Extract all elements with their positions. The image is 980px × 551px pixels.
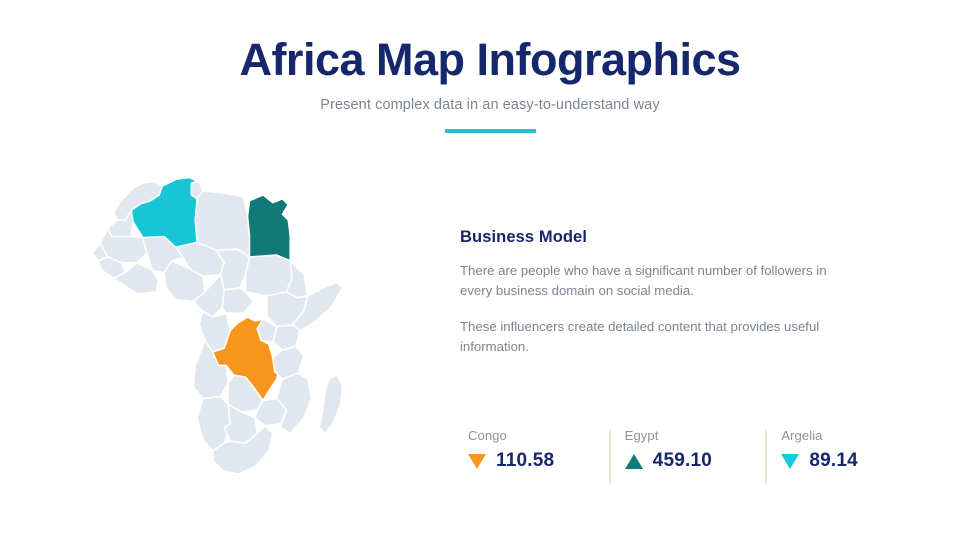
- country-egypt-highlighted: [248, 195, 291, 261]
- stat-egypt: Egypt 459.10: [609, 428, 766, 472]
- country-madagascar: [319, 375, 342, 433]
- stat-value-egypt: 459.10: [653, 450, 712, 472]
- business-model-panel: Business Model There are people who have…: [460, 228, 880, 357]
- stat-value-row-egypt: 459.10: [625, 450, 766, 472]
- stat-label-argelia: Argelia: [781, 428, 922, 443]
- trend-down-icon-argelia: [781, 454, 799, 469]
- header: Africa Map Infographics Present complex …: [0, 36, 980, 113]
- stat-congo: Congo 110.58: [452, 428, 609, 472]
- panel-heading: Business Model: [460, 228, 880, 247]
- page-subtitle: Present complex data in an easy-to-under…: [0, 97, 980, 113]
- country-mozambique: [277, 373, 312, 433]
- stat-argelia: Argelia 89.14: [765, 428, 922, 472]
- trend-up-icon-egypt: [625, 454, 643, 469]
- country-sudan: [246, 255, 293, 296]
- stat-value-row-argelia: 89.14: [781, 450, 922, 472]
- stat-value-argelia: 89.14: [809, 450, 858, 472]
- stat-label-congo: Congo: [468, 428, 609, 443]
- map-base-countries: [92, 181, 342, 474]
- stats-row: Congo 110.58 Egypt 459.10 Argelia 89.14: [452, 428, 922, 486]
- page-title: Africa Map Infographics: [0, 36, 980, 83]
- stat-value-row-congo: 110.58: [468, 450, 609, 472]
- panel-paragraph-1: There are people who have a significant …: [460, 261, 860, 301]
- slide-canvas: Africa Map Infographics Present complex …: [0, 0, 980, 551]
- trend-down-icon-congo: [468, 454, 486, 469]
- stat-value-congo: 110.58: [496, 450, 554, 472]
- africa-map: [78, 160, 388, 480]
- panel-paragraph-2: These influencers create detailed conten…: [460, 317, 860, 357]
- stat-label-egypt: Egypt: [625, 428, 766, 443]
- title-underline-rule: [445, 129, 536, 133]
